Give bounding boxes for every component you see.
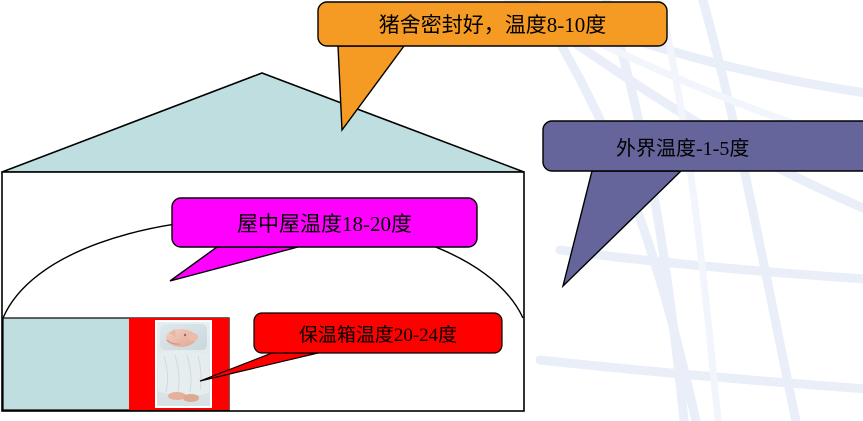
callout-inner-house-temperature-shape bbox=[170, 198, 477, 281]
callout-warming-box-temperature-shape bbox=[200, 313, 502, 381]
callout-outside-temperature-shape bbox=[543, 121, 863, 286]
callout-pig-house-sealed-shape bbox=[318, 2, 667, 130]
callout-shapes-layer bbox=[0, 0, 863, 421]
slide-canvas: 猪舍密封好，温度8-10度 外界温度-1-5度 屋中屋温度18-20度 保温箱温… bbox=[0, 0, 863, 421]
